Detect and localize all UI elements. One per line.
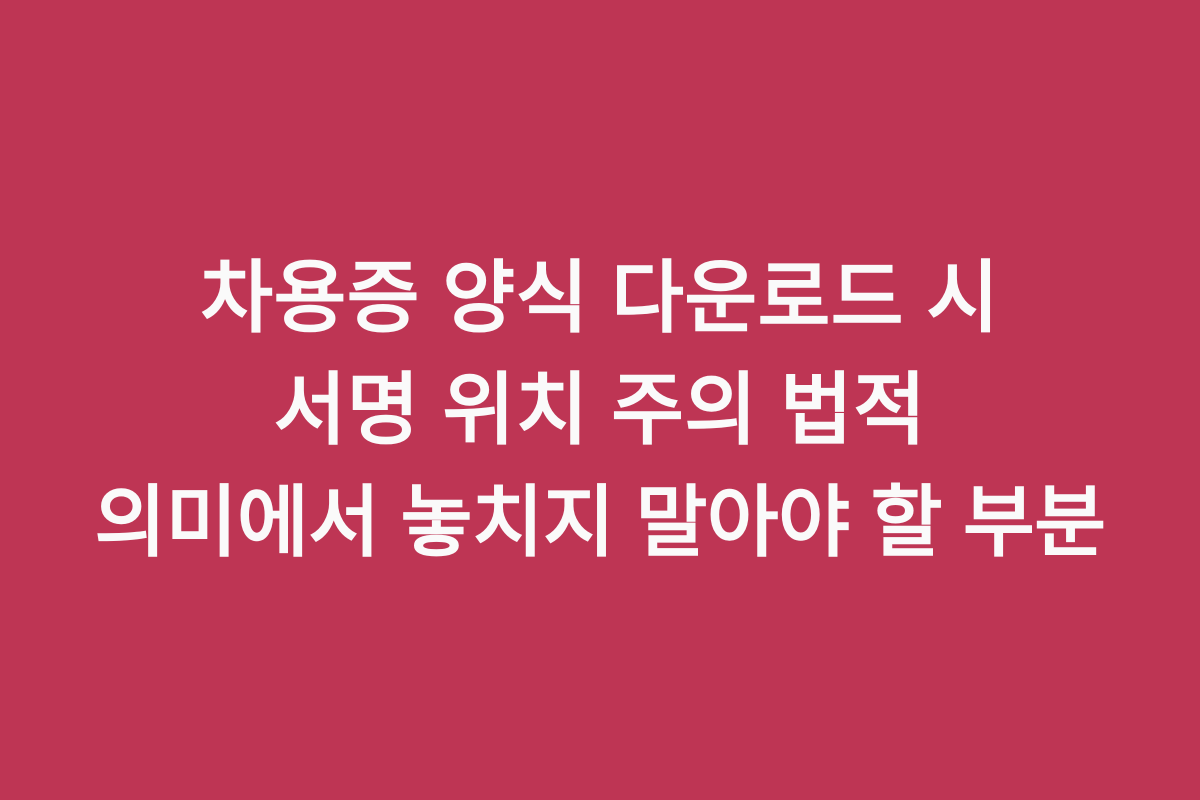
headline-line-1: 차용증 양식 다운로드 시	[18, 242, 1182, 354]
headline-block: 차용증 양식 다운로드 시 서명 위치 주의 법적 의미에서 놓치지 말아야 할…	[0, 242, 1200, 578]
headline-line-2: 서명 위치 주의 법적	[18, 354, 1182, 466]
headline-line-3: 의미에서 놓치지 말아야 할 부분	[18, 466, 1182, 578]
thumbnail-card: 차용증 양식 다운로드 시 서명 위치 주의 법적 의미에서 놓치지 말아야 할…	[0, 0, 1200, 800]
